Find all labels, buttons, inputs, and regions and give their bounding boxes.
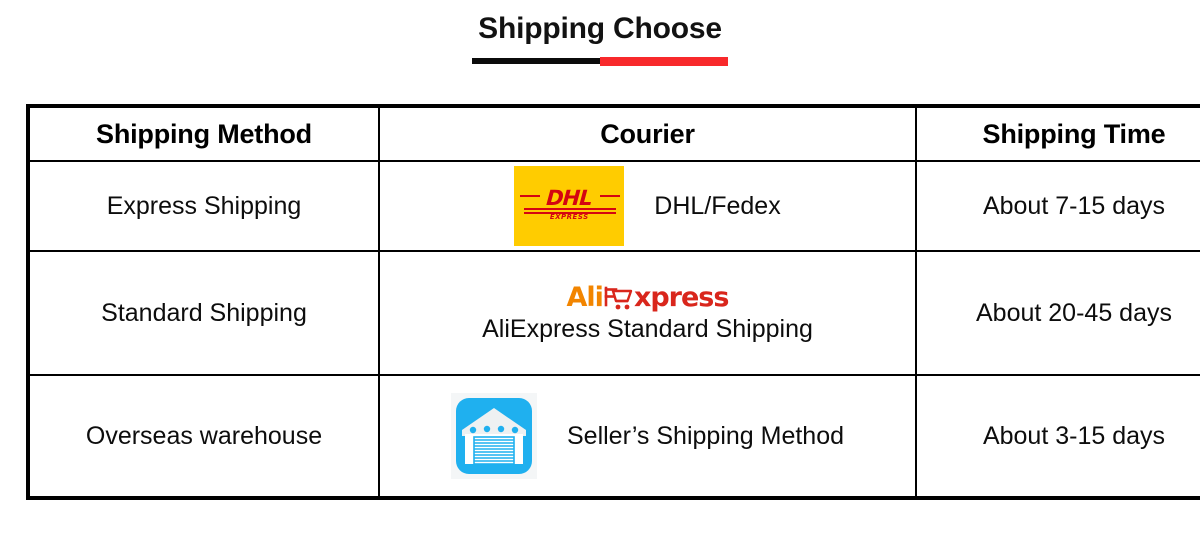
aliexpress-logo-xpress-text: xpress (634, 283, 729, 313)
cell-shipping-time: About 3-15 days (916, 375, 1200, 498)
column-header-courier: Courier (379, 106, 916, 161)
table-row: Overseas warehouse (28, 375, 1200, 498)
shipping-options-table: Shipping Method Courier Shipping Time Ex… (26, 104, 1200, 500)
dhl-logo-subtext: EXPRESS (514, 213, 624, 221)
rule-segment-red (600, 57, 728, 66)
dhl-logo: DHL EXPRESS (514, 166, 624, 246)
table-row: Express Shipping DHL EXPRESS DH (28, 161, 1200, 251)
title-underline-rule (472, 56, 728, 66)
column-header-shipping-time: Shipping Time (916, 106, 1200, 161)
rule-segment-black (472, 58, 600, 64)
shipping-time-label: About 3-15 days (927, 422, 1200, 451)
cell-shipping-time: About 7-15 days (916, 161, 1200, 251)
cell-courier: DHL EXPRESS DHL/Fedex (379, 161, 916, 251)
page-title: Shipping Choose (0, 10, 1200, 48)
aliexpress-logo-ali-text: Ali (567, 283, 603, 313)
table-header-row: Shipping Method Courier Shipping Time (28, 106, 1200, 161)
courier-label: Seller’s Shipping Method (567, 422, 844, 451)
shipping-time-label: About 7-15 days (927, 192, 1200, 221)
cell-shipping-method: Overseas warehouse (28, 375, 379, 498)
aliexpress-logo: Ali (567, 283, 729, 313)
cell-courier: Ali (379, 251, 916, 375)
dhl-streak-under-1-icon (524, 208, 616, 210)
shipping-time-label: About 20-45 days (927, 299, 1200, 328)
courier-label: AliExpress Standard Shipping (482, 315, 813, 344)
warehouse-icon (451, 393, 537, 479)
shopping-cart-icon (603, 285, 633, 311)
cell-shipping-method: Express Shipping (28, 161, 379, 251)
courier-label: DHL/Fedex (654, 192, 780, 221)
shipping-method-label: Standard Shipping (40, 299, 368, 328)
column-header-shipping-method: Shipping Method (28, 106, 379, 161)
shipping-method-label: Express Shipping (40, 192, 368, 221)
shipping-method-label: Overseas warehouse (40, 422, 368, 451)
cell-courier: Seller’s Shipping Method (379, 375, 916, 498)
cell-shipping-time: About 20-45 days (916, 251, 1200, 375)
table-row: Standard Shipping Ali (28, 251, 1200, 375)
dhl-logo-wordmark: DHL (514, 188, 624, 209)
cell-shipping-method: Standard Shipping (28, 251, 379, 375)
page-header: Shipping Choose (0, 10, 1200, 66)
